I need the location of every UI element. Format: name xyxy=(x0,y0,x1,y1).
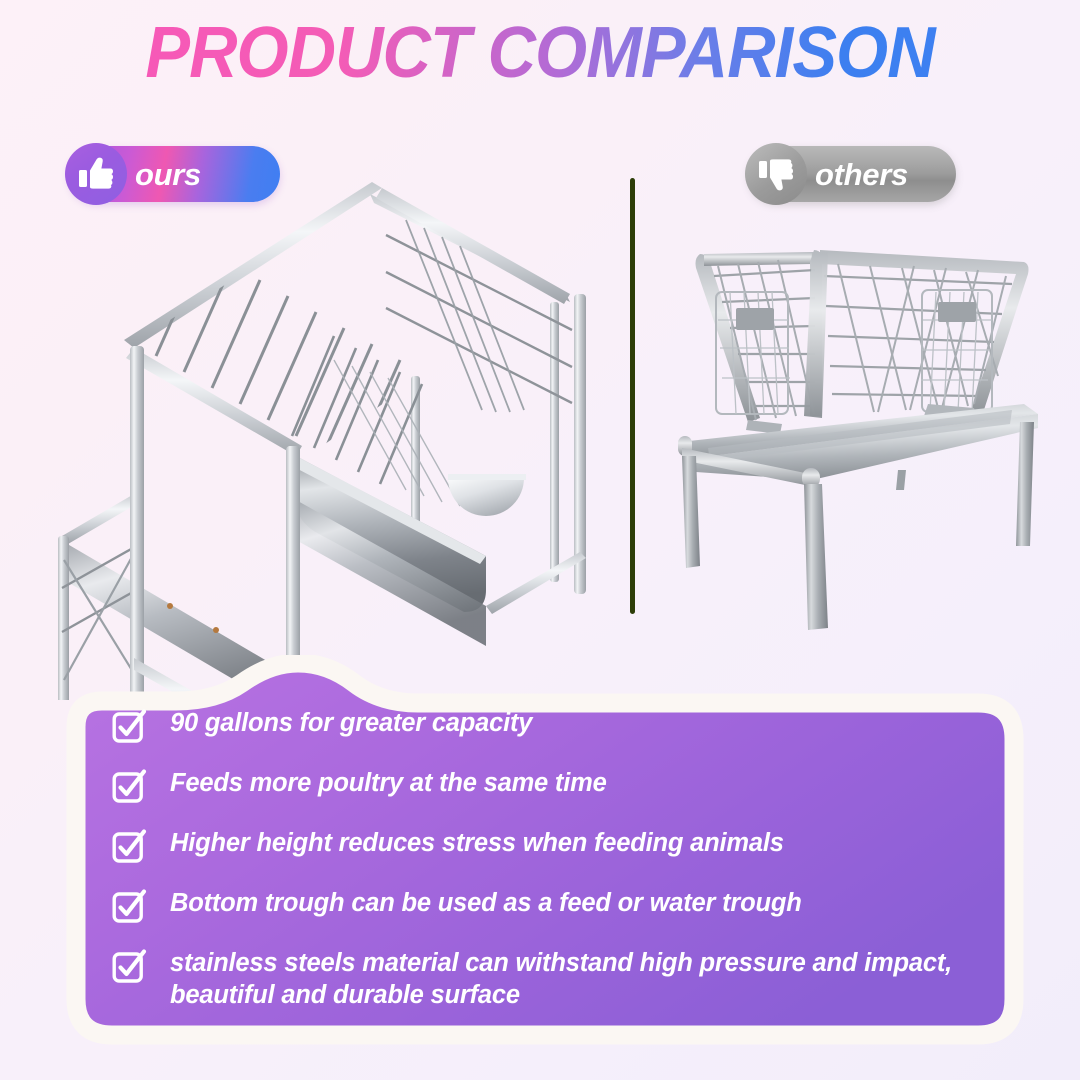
badge-others-label: others xyxy=(815,159,928,190)
comparison-divider xyxy=(630,178,635,614)
feature-text: 90 gallons for greater capacity xyxy=(170,707,532,739)
list-item: Feeds more poultry at the same time xyxy=(112,767,992,807)
check-square-icon xyxy=(112,890,146,924)
list-item: stainless steels material can withstand … xyxy=(112,947,992,1011)
thumbs-down-icon xyxy=(745,143,807,205)
list-item: Bottom trough can be used as a feed or w… xyxy=(112,887,992,927)
badge-others[interactable]: others xyxy=(748,146,956,202)
check-square-icon xyxy=(112,710,146,744)
feature-text: Bottom trough can be used as a feed or w… xyxy=(170,887,802,919)
features-panel: 90 gallons for greater capacity Feeds mo… xyxy=(66,655,1024,1045)
page-title: PRODUCT COMPARISON xyxy=(38,16,1042,92)
check-square-icon xyxy=(112,830,146,864)
list-item: Higher height reduces stress when feedin… xyxy=(112,827,992,867)
product-image-others xyxy=(652,236,1064,648)
badge-ours[interactable]: ours xyxy=(68,146,280,202)
feature-text: Higher height reduces stress when feedin… xyxy=(170,827,784,859)
check-square-icon xyxy=(112,770,146,804)
thumbs-up-icon xyxy=(65,143,127,205)
check-square-icon xyxy=(112,950,146,984)
feature-list: 90 gallons for greater capacity Feeds mo… xyxy=(112,707,992,1011)
list-item: 90 gallons for greater capacity xyxy=(112,707,992,747)
badge-ours-label: ours xyxy=(135,159,221,190)
product-image-ours xyxy=(34,160,614,700)
feature-text: stainless steels material can withstand … xyxy=(170,947,992,1011)
feature-text: Feeds more poultry at the same time xyxy=(170,767,607,799)
